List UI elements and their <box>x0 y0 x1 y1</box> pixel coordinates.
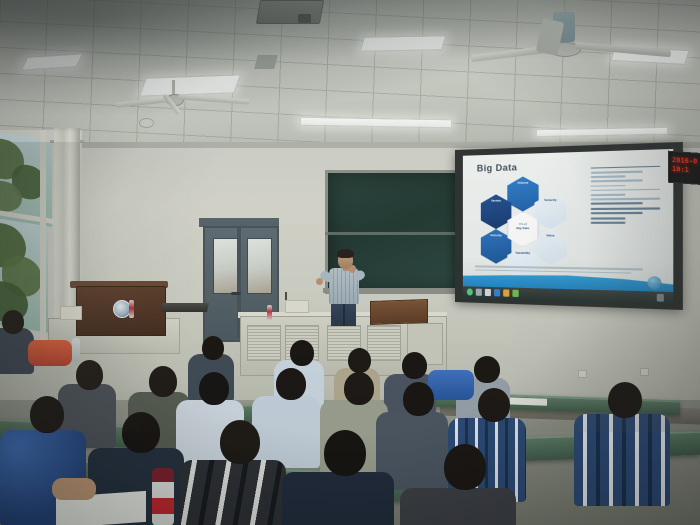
lecture-hall-photo: Big Data Volume Variety Velocity Veracit… <box>0 0 700 525</box>
attendee-body <box>180 460 286 525</box>
ceiling-shadow <box>0 0 700 152</box>
attendee-body <box>400 488 516 525</box>
hand-writing <box>52 478 96 500</box>
water-bottle <box>152 468 174 525</box>
attendee-body <box>282 472 394 525</box>
attendee-head <box>324 430 366 476</box>
wall-shadow <box>0 142 700 432</box>
attendee-head <box>444 444 486 490</box>
